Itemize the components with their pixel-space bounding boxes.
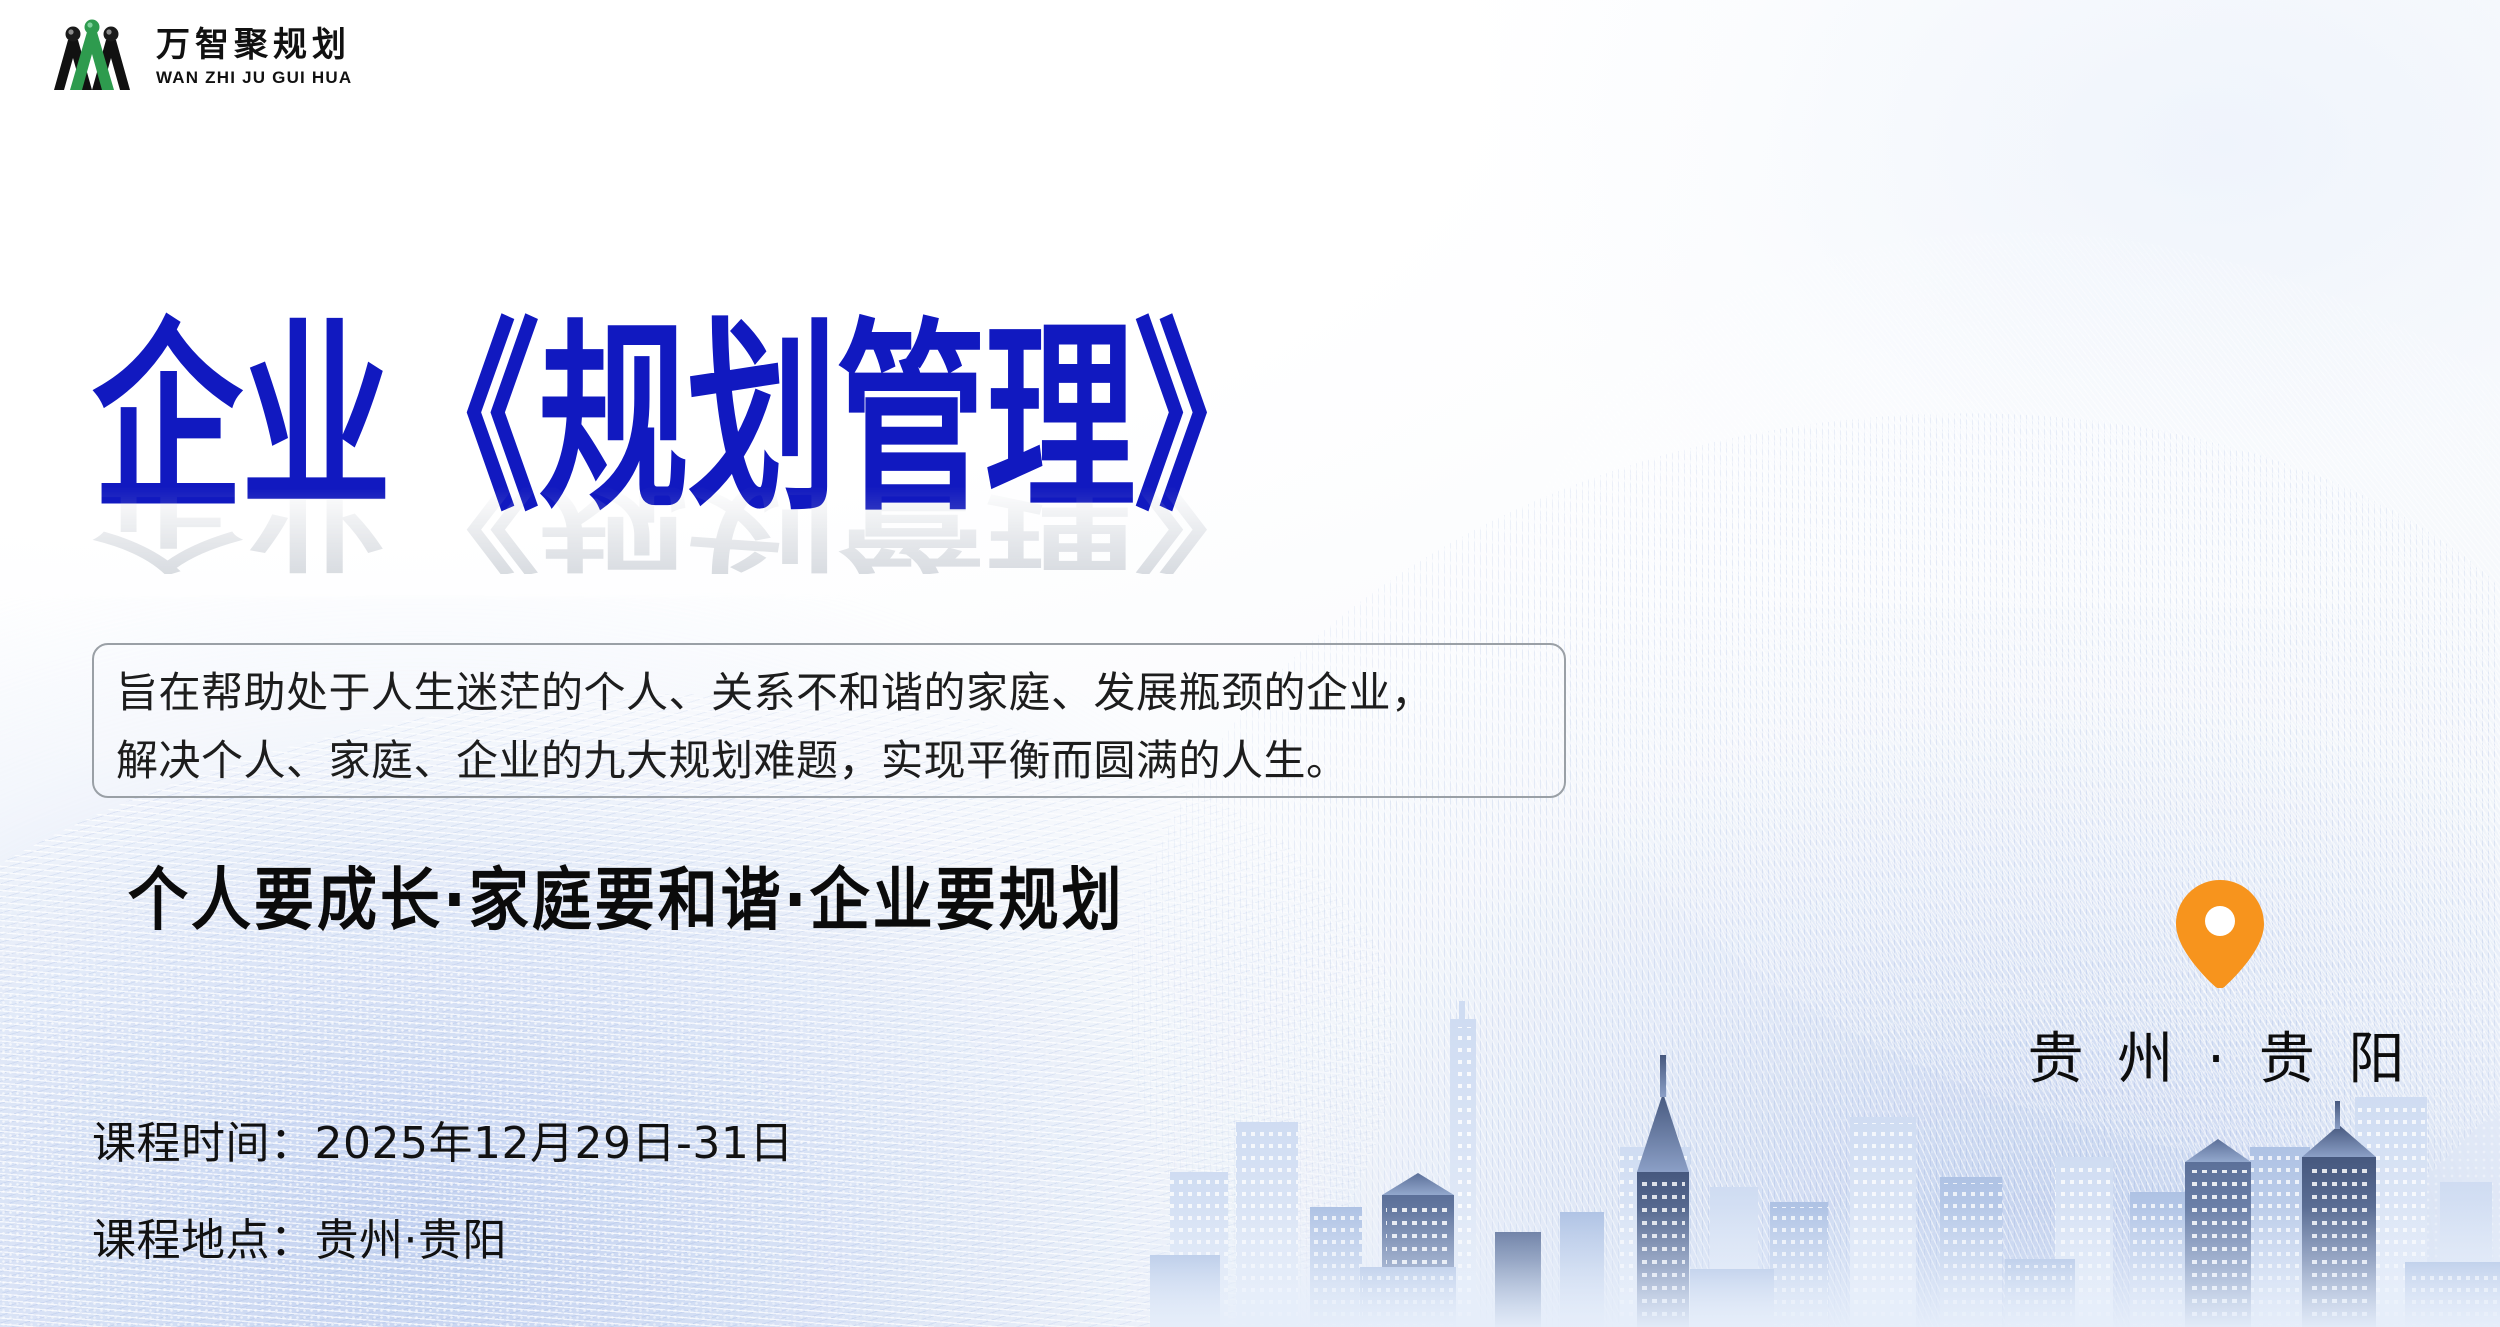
course-place-row: 课程地点：贵州·贵阳 [92, 1219, 794, 1263]
brand-name-en: WAN ZHI JU GUI HUA [156, 69, 352, 86]
page-title-reflection: 企业《规划管理》 [92, 478, 1282, 574]
brand-name-cn: 万智聚规划 [156, 28, 352, 62]
course-info-block: 课程时间：2025年12月29日-31日 课程地点：贵州·贵阳 [92, 1122, 794, 1263]
location-label: 贵 州 · 贵 阳 [2028, 1014, 2413, 1095]
description-box: 旨在帮助处于人生迷茫的个人、关系不和谐的家庭、发展瓶颈的企业， 解决个人、家庭、… [92, 643, 1566, 798]
location-block: 贵 州 · 贵 阳 [2040, 880, 2400, 1095]
slogan-text: 个人要成长·家庭要和谐·企业要规划 [128, 845, 1125, 944]
brand-logo: 万智聚规划 WAN ZHI JU GUI HUA [44, 18, 352, 96]
description-line-1: 旨在帮助处于人生迷茫的个人、关系不和谐的家庭、发展瓶颈的企业， [116, 659, 1542, 727]
skyline-bottom-fade [1150, 1207, 2500, 1327]
background-bloom-top-right [1500, 0, 2500, 600]
course-time-row: 课程时间：2025年12月29日-31日 [92, 1122, 794, 1166]
map-pin-icon [2176, 880, 2264, 988]
hero-title-block: 企业《规划管理》 企业《规划管理》 [92, 316, 1652, 481]
brand-logo-text: 万智聚规划 WAN ZHI JU GUI HUA [156, 28, 352, 86]
description-line-2: 解决个人、家庭、企业的九大规划难题，实现平衡而圆满的人生。 [116, 727, 1542, 795]
poster-canvas: 万智聚规划 WAN ZHI JU GUI HUA 企业《规划管理》 企业《规划管… [0, 0, 2500, 1327]
three-people-mark-icon [44, 18, 140, 96]
